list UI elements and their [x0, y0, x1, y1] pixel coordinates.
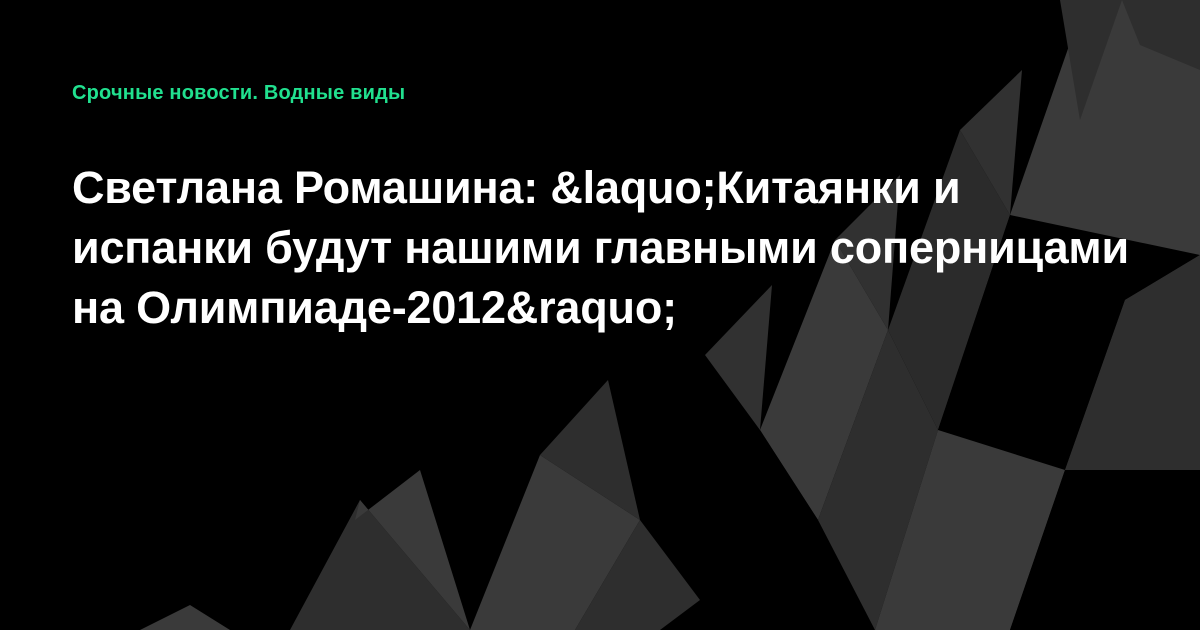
share-card: Срочные новости. Водные виды Светлана Ро…: [0, 0, 1200, 630]
chevron-shape: [700, 430, 818, 630]
chevron-shape: [1060, 0, 1122, 120]
chevron-shape: [575, 520, 700, 630]
chevron-shape: [1010, 470, 1200, 630]
chevron-shape: [140, 605, 230, 630]
chevron-shape: [875, 430, 1065, 630]
chevron-shape: [540, 380, 640, 520]
chevron-shape: [1122, 0, 1200, 70]
chevron-shape: [290, 500, 470, 630]
chevron-shape: [355, 470, 470, 630]
page-title: Светлана Ромашина: &laquo;Китаянки и исп…: [72, 158, 1132, 338]
chevron-shape: [640, 355, 760, 600]
kicker-label: Срочные новости. Водные виды: [72, 80, 405, 106]
chevron-shape: [818, 330, 938, 630]
chevron-shape: [470, 455, 640, 630]
